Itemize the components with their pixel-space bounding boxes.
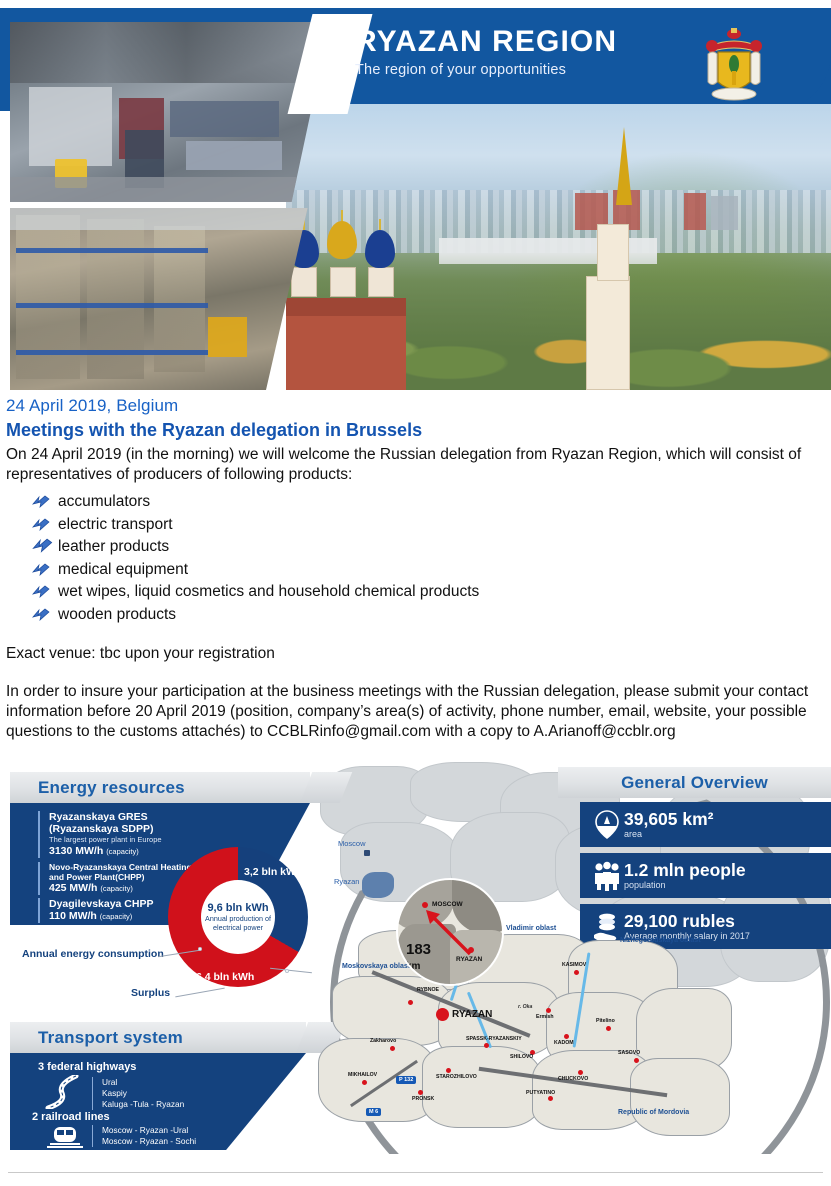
city-label: Zakharovo <box>370 1038 396 1044</box>
header-title-block: RYAZAN REGION The region of your opportu… <box>355 24 617 78</box>
registration-instructions: In order to insure your participation at… <box>0 680 831 742</box>
energy-resources-title: Energy resources <box>38 778 185 798</box>
magnifier-label-ryazan: RYAZAN <box>456 956 482 963</box>
moscow-marker <box>364 850 370 856</box>
city-label: Ermish <box>536 1014 554 1020</box>
rail-title: 2 railroad lines <box>32 1111 110 1123</box>
venue-note: Exact venue: tbc upon your registration <box>0 642 831 664</box>
highway-item: Kaspiy <box>102 1088 184 1099</box>
textile-factory-photo <box>10 22 330 202</box>
footer-divider <box>8 1172 823 1173</box>
surplus-value: 3,2 bln kWh <box>244 866 302 878</box>
hero-banner: RYAZAN REGION The region of your opportu… <box>0 0 831 392</box>
people-group-icon <box>592 860 622 891</box>
donut-center-caption: Annual production of electrical power <box>201 914 275 932</box>
rail-list: Moscow - Ryazan -Ural Moscow - Ryazan - … <box>92 1125 196 1147</box>
plant-capacity-unit: (capacity) <box>100 884 133 893</box>
blue-arrow-bullet-icon <box>32 517 50 531</box>
donut-center-value: 9,6 bln kWh <box>207 902 268 914</box>
transport-system-title: Transport system <box>38 1028 183 1048</box>
highway-road-icon <box>42 1075 88 1114</box>
highways-title: 3 federal highways <box>38 1061 136 1073</box>
city-label: PUTYATINO <box>526 1090 555 1096</box>
river-label: r. Oka <box>518 1004 532 1010</box>
blue-arrow-bullet-icon <box>32 538 53 554</box>
list-item: wooden products <box>32 604 831 626</box>
city-label: KADOM <box>554 1040 574 1046</box>
overview-map-label-moscow: Moscow <box>338 839 366 848</box>
blue-arrow-bullet-icon <box>32 607 50 621</box>
rail-item: Moscow - Ryazan -Ural <box>102 1125 196 1136</box>
surplus-label: Surplus <box>131 987 170 999</box>
warehouse-photo <box>10 208 330 390</box>
plant-capacity-unit: (capacity) <box>100 912 133 921</box>
ryazan-region-highlight <box>362 872 394 898</box>
list-item-label: accumulators <box>58 493 150 510</box>
city-label: PRONSK <box>412 1096 434 1102</box>
list-item-label: leather products <box>58 538 169 555</box>
ryazan-region-map: P 132 M 6 RYAZAN SPAS-KLEPIKI KASIMOV RY… <box>318 930 748 1154</box>
consumption-value: 6,4 bln kWh <box>196 971 254 983</box>
article-intro: On 24 April 2019 (in the morning) we wil… <box>0 443 831 485</box>
power-plant-item: Ryazanskaya GRES (Ryazanskaya SDPP) The … <box>38 811 162 858</box>
page-subtitle: The region of your opportunities <box>355 62 617 78</box>
blue-arrow-bullet-icon <box>32 562 50 576</box>
moscow-ryazan-distance-magnifier: MOSCOW RYAZAN 183 km <box>396 878 504 986</box>
blue-arrow-bullet-icon <box>32 494 50 508</box>
rail-item: Moscow - Ryazan - Sochi <box>102 1136 196 1147</box>
overview-value: 29,100 rubles <box>624 912 750 931</box>
blue-arrow-bullet-icon <box>32 584 50 598</box>
magnifier-label-moscow: MOSCOW <box>432 901 463 908</box>
consumption-label: Annual energy consumption <box>22 948 164 960</box>
overview-map-label-ryazan: Ryazan <box>334 877 359 886</box>
power-plant-item: Dyagilevskaya CHPP 110 MW/h (capacity) <box>38 898 153 923</box>
map-pin-icon <box>592 809 622 840</box>
list-item: electric transport <box>32 514 831 536</box>
list-item-label: medical equipment <box>58 561 188 578</box>
plant-capacity: 110 MW/h <box>49 910 97 922</box>
page-title: RYAZAN REGION <box>355 24 617 60</box>
city-label: KASIMOV <box>562 962 586 968</box>
transport-system-header: Transport system <box>10 1022 306 1053</box>
oblast-label-vladimir: Vladimir oblast <box>506 924 556 933</box>
overview-value: 1.2 mln people <box>624 861 746 880</box>
plant-capacity: 3130 MW/h <box>49 845 103 857</box>
city-label: SHILOVO <box>510 1054 533 1060</box>
plant-name-alt: (Ryazanskaya SDPP) <box>49 823 162 835</box>
general-overview-title: General Overview <box>621 773 768 793</box>
capital-marker <box>436 1008 449 1021</box>
plant-capacity-unit: (capacity) <box>106 847 139 856</box>
list-item-label: electric transport <box>58 516 173 533</box>
overview-value: 39,605 km² <box>624 810 714 829</box>
plant-capacity: 425 MW/h <box>49 882 97 894</box>
city-label: Pitelino <box>596 1018 615 1024</box>
train-icon <box>46 1125 84 1154</box>
plant-name: Dyagilevskaya CHPP <box>49 898 153 910</box>
list-item: accumulators <box>32 491 831 513</box>
products-list: accumulators electric transport leather … <box>0 491 831 625</box>
list-item: leather products <box>32 536 831 558</box>
ryazan-kremlin-cityscape-photo <box>286 104 831 390</box>
transport-system-panel: 3 federal highways Ural Kaspiy Kaluga -T… <box>10 1053 306 1150</box>
oblast-label-nizhegorodskaya: Nizhegorodskaya oblast <box>620 936 701 945</box>
ryazan-coat-of-arms-icon <box>700 24 768 102</box>
overview-caption: population <box>624 880 746 891</box>
road-shield: M 6 <box>366 1108 381 1116</box>
highways-list: Ural Kaspiy Kaluga -Tula - Ryazan <box>92 1077 184 1110</box>
donut-center: 9,6 bln kWh Annual production of electri… <box>201 880 275 954</box>
list-item-label: wet wipes, liquid cosmetics and househol… <box>58 583 479 600</box>
article-body: 24 April 2019, Belgium Meetings with the… <box>0 392 831 742</box>
highway-item: Kaluga -Tula - Ryazan <box>102 1099 184 1110</box>
overview-row-area: 39,605 km² area <box>580 802 831 847</box>
list-item-label: wooden products <box>58 606 176 623</box>
article-kicker: 24 April 2019, Belgium <box>0 392 831 416</box>
city-label: SPASSK-RYAZANSKIY <box>466 1036 522 1042</box>
oblast-label-mordovia: Republic of Mordovia <box>618 1108 689 1117</box>
plant-name: Ryazanskaya GRES <box>49 811 162 823</box>
distance-value: 183 <box>406 941 431 958</box>
city-label: CHUCKOVO <box>558 1076 588 1082</box>
city-label: SASOVO <box>618 1050 640 1056</box>
list-item: medical equipment <box>32 559 831 581</box>
city-label: RYBNOE <box>417 987 439 993</box>
magnifier-distance: 183 km <box>406 942 431 974</box>
city-label: STAROZHILOVO <box>436 1074 477 1080</box>
road-shield: P 132 <box>396 1076 416 1084</box>
city-label: MIKHAILOV <box>348 1072 377 1078</box>
overview-caption: area <box>624 829 714 840</box>
highway-item: Ural <box>102 1077 184 1088</box>
overview-row-population: 1.2 mln people population <box>580 853 831 898</box>
capital-label: RYAZAN <box>452 1009 492 1020</box>
distance-unit: km <box>406 961 420 972</box>
energy-resources-header: Energy resources <box>10 772 310 803</box>
plant-note: The largest power plant in Europe <box>49 835 162 845</box>
list-item: wet wipes, liquid cosmetics and househol… <box>32 581 831 603</box>
general-overview-header: General Overview <box>558 767 831 798</box>
article-headline: Meetings with the Ryazan delegation in B… <box>0 416 831 443</box>
